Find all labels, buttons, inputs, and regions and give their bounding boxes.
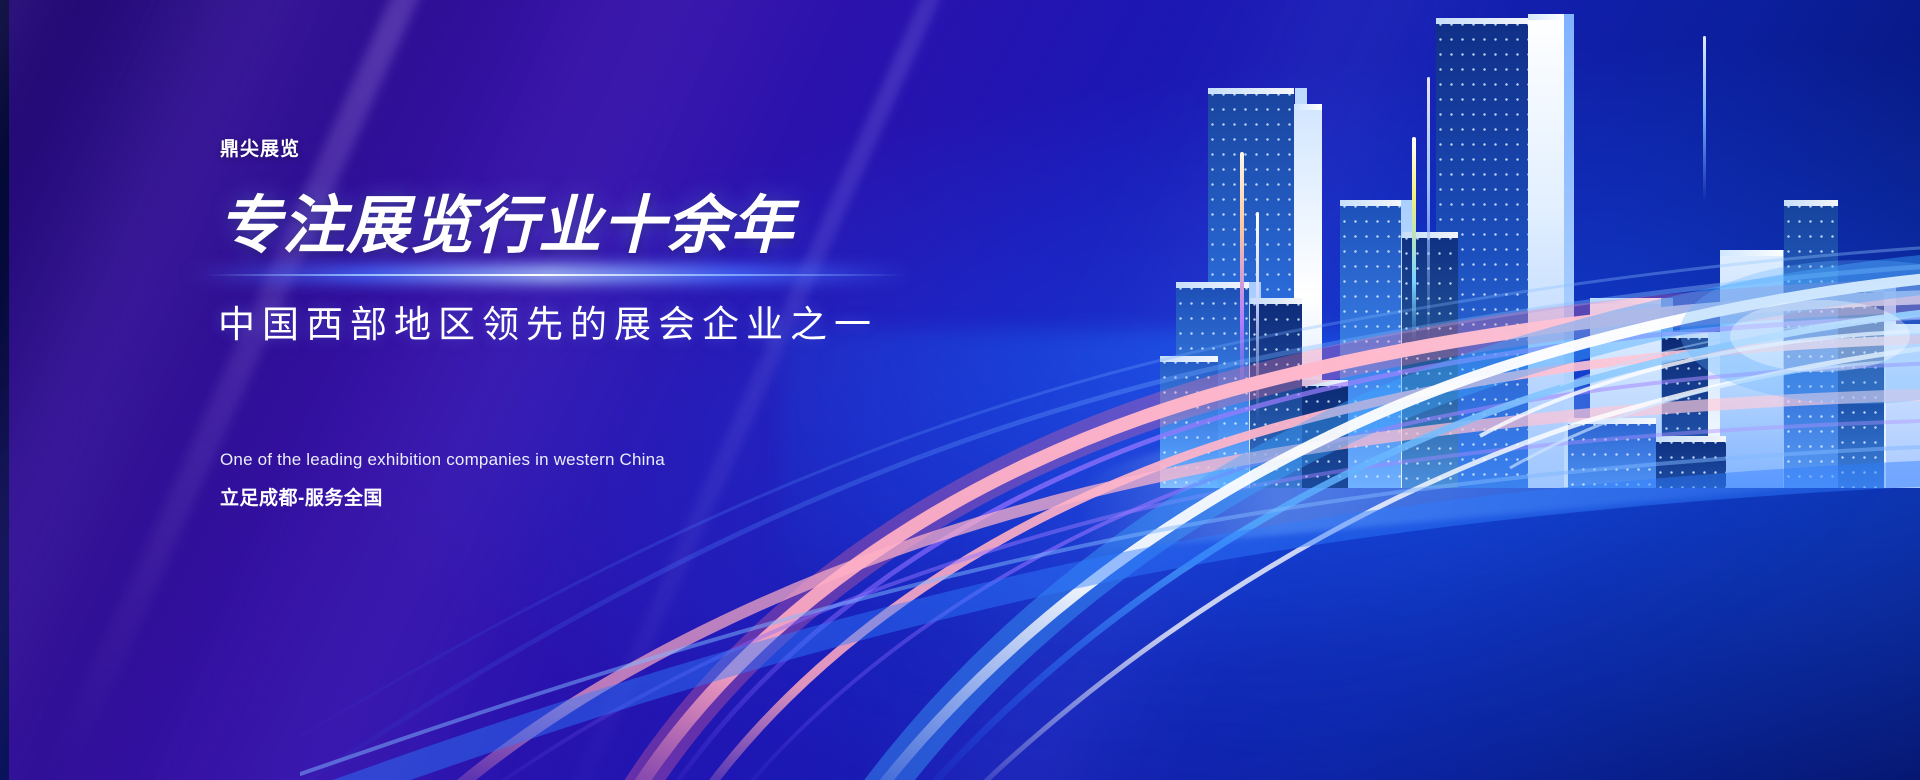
building <box>1160 356 1218 488</box>
building <box>1838 286 1886 488</box>
underline-core <box>206 274 906 276</box>
vertical-light-streak <box>1703 36 1706 201</box>
building <box>1568 418 1656 488</box>
vertical-light-streak <box>1412 137 1416 342</box>
hero-banner: 鼎尖展览 专注展览行业十余年 中国西部地区领先的展会企业之一 One of th… <box>0 0 1920 780</box>
chinese-tagline: 立足成都-服务全国 <box>220 489 1078 508</box>
page-title: 专注展览行业十余年 <box>218 195 1078 258</box>
brand-logo-text: 鼎尖展览 <box>220 140 1078 159</box>
building <box>1886 324 1920 488</box>
building <box>1340 200 1402 488</box>
hero-copy-block: 鼎尖展览 专注展览行业十余年 中国西部地区领先的展会企业之一 One of th… <box>218 140 1078 508</box>
building <box>1402 232 1458 488</box>
building <box>1656 436 1726 488</box>
building <box>1720 250 1784 488</box>
building <box>1784 200 1838 488</box>
vertical-light-streak <box>1240 152 1244 397</box>
page-subtitle: 中国西部地区领先的展会企业之一 <box>218 304 1078 347</box>
headline-glow-underline <box>206 268 906 284</box>
building <box>1302 380 1348 488</box>
building <box>1528 14 1564 488</box>
left-edge-rail <box>0 0 9 780</box>
vertical-light-streak <box>1256 212 1259 422</box>
diagonal-light-beam <box>0 0 225 780</box>
vertical-light-streak <box>1427 77 1430 342</box>
english-tagline: One of the leading exhibition companies … <box>220 451 1078 468</box>
city-skyline <box>1160 0 1920 520</box>
